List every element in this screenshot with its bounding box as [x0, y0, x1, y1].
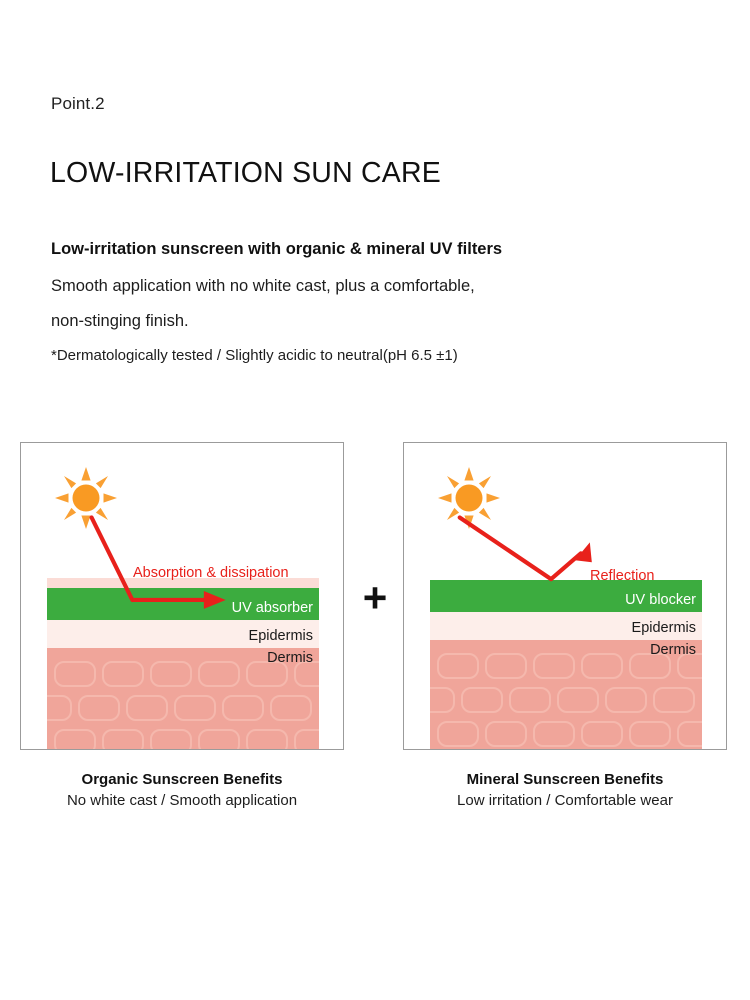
- skin-layer-epidermis: Epidermis: [430, 612, 702, 640]
- caption-organic: Organic Sunscreen Benefits No white cast…: [20, 770, 344, 812]
- diagram-panel-organic: UV absorber Epidermis: [20, 442, 344, 750]
- caption-subtitle-mineral: Low irritation / Comfortable wear: [403, 790, 727, 812]
- skin-layer-dermis: Dermis: [430, 640, 702, 750]
- skin-layer-epidermis: Epidermis: [47, 620, 319, 648]
- skin-layer-uv-filter: UV absorber: [47, 588, 319, 620]
- skin-layer-label-epidermis: Epidermis: [632, 620, 696, 636]
- lede-text: Low-irritation sunscreen with organic & …: [51, 240, 502, 259]
- skin-cross-section-organic: UV absorber Epidermis: [47, 578, 319, 750]
- plus-connector-icon: +: [357, 581, 393, 617]
- body-text-line-1: Smooth application with no white cast, p…: [51, 277, 475, 296]
- infographic-page: Point.2 LOW-IRRITATION SUN CARE Low-irri…: [0, 0, 750, 1000]
- footnote-text: *Dermatologically tested / Slightly acid…: [51, 347, 458, 364]
- skin-layer-label-epidermis: Epidermis: [249, 628, 313, 644]
- caption-mineral: Mineral Sunscreen Benefits Low irritatio…: [403, 770, 727, 812]
- skin-cross-section-mineral: UV blocker Epidermis: [430, 580, 702, 750]
- skin-layer-label-dermis: Dermis: [650, 642, 696, 658]
- page-title: LOW-IRRITATION SUN CARE: [50, 157, 441, 190]
- skin-layer-label-dermis: Dermis: [267, 650, 313, 666]
- ray-label-reflection: Reflection: [590, 568, 654, 584]
- caption-subtitle-organic: No white cast / Smooth application: [20, 790, 344, 812]
- sun-icon: [55, 467, 117, 529]
- skin-layer-label-uv-filter: UV absorber: [232, 600, 313, 616]
- ray-label-absorption: Absorption & dissipation: [133, 565, 289, 581]
- caption-title-organic: Organic Sunscreen Benefits: [20, 770, 344, 790]
- sun-icon: [438, 467, 500, 529]
- caption-title-mineral: Mineral Sunscreen Benefits: [403, 770, 727, 790]
- diagram-panel-mineral: UV blocker Epidermis: [403, 442, 727, 750]
- body-text-line-2: non-stinging finish.: [51, 312, 189, 331]
- skin-layer-dermis: Dermis: [47, 648, 319, 750]
- skin-layer-label-uv-filter: UV blocker: [625, 592, 696, 608]
- skin-layer-uv-filter: UV blocker: [430, 580, 702, 612]
- point-label: Point.2: [51, 94, 105, 114]
